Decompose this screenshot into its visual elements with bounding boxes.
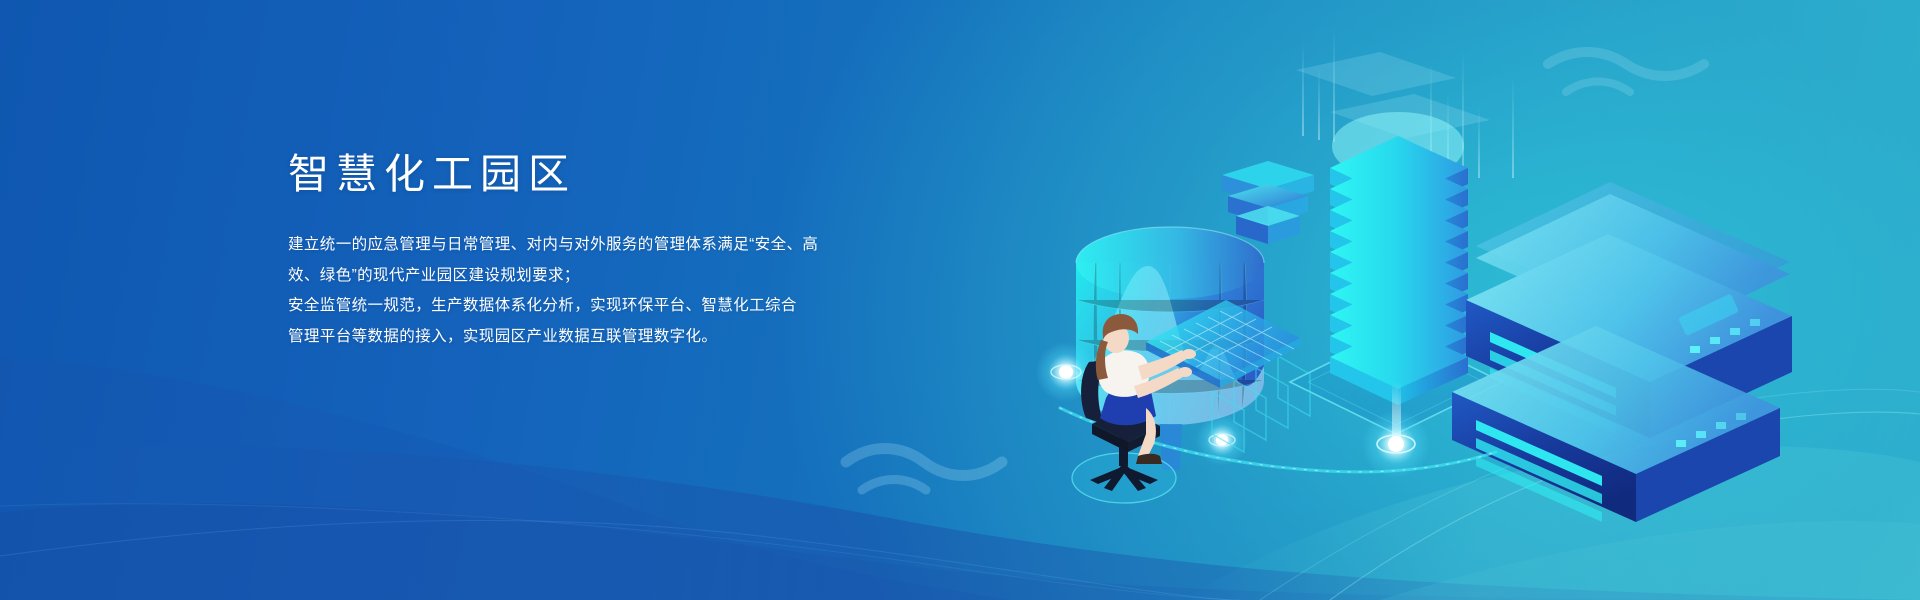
- hero-banner: 智慧化工园区 建立统一的应急管理与日常管理、对内与对外服务的管理体系满足“安全、…: [0, 0, 1920, 600]
- glow-node-tower: [1362, 410, 1430, 478]
- wave-glyph-decor-top: [1548, 52, 1704, 92]
- description-line-4: 管理平台等数据的接入，实现园区产业数据互联管理数字化。: [288, 322, 908, 353]
- page-title: 智慧化工园区: [288, 148, 908, 200]
- description-line-3: 安全监管统一规范，生产数据体系化分析，实现环保平台、智慧化工综合: [288, 291, 908, 322]
- hero-copy: 智慧化工园区 建立统一的应急管理与日常管理、对内与对外服务的管理体系满足“安全、…: [288, 148, 908, 352]
- hero-description: 建立统一的应急管理与日常管理、对内与对外服务的管理体系满足“安全、高 效、绿色”…: [288, 230, 908, 352]
- wave-glyph-decor: [846, 449, 1002, 491]
- floating-cube-stack: [1222, 161, 1314, 244]
- description-line-1: 建立统一的应急管理与日常管理、对内与对外服务的管理体系满足“安全、高: [288, 230, 908, 261]
- description-line-2: 效、绿色”的现代产业园区建设规划要求；: [288, 261, 908, 292]
